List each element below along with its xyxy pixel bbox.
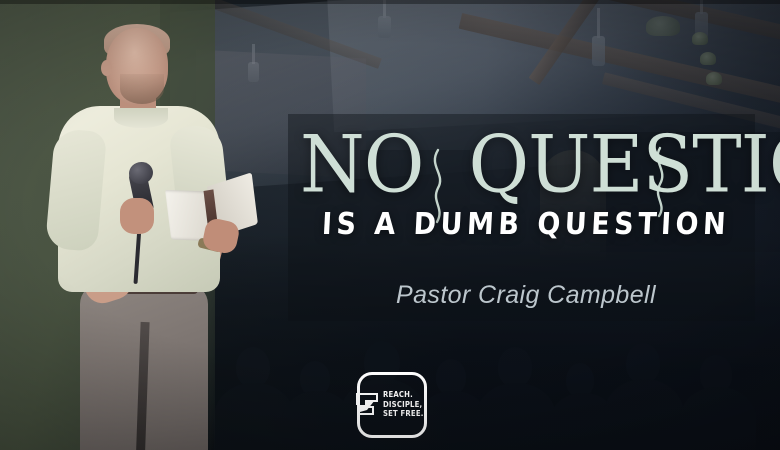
sermon-title-graphic: NO QUESTION IS A DUMB QUESTION Pastor Cr… <box>0 0 780 450</box>
logo-tagline: REACH. DISCIPLE, SET FREE. <box>383 391 427 419</box>
top-edge-band <box>0 0 780 4</box>
headline-title: NO QUESTION <box>300 126 752 204</box>
speaker-collar <box>114 108 168 128</box>
speaker-ear <box>101 60 112 76</box>
headline-word-question: QUESTION <box>468 119 780 210</box>
speaker-hand-holding-mic <box>120 198 154 234</box>
logo-line-disciple: DISCIPLE, <box>383 401 424 410</box>
speaker-photo-cutout <box>28 22 243 450</box>
logo-line-reach: REACH. <box>383 391 424 400</box>
logo-line-setfree: SET FREE. <box>383 410 424 419</box>
speaker-sleeve-left <box>45 128 107 252</box>
speaker-beard <box>120 74 164 104</box>
headline-word-no: NO <box>300 119 423 210</box>
headline-subtitle: IS A DUMB QUESTION <box>299 208 753 242</box>
speaker-name: Pastor Craig Campbell <box>300 280 752 310</box>
church-logo: REACH. DISCIPLE, SET FREE. <box>357 372 427 438</box>
arrow-stair-icon <box>356 390 380 420</box>
